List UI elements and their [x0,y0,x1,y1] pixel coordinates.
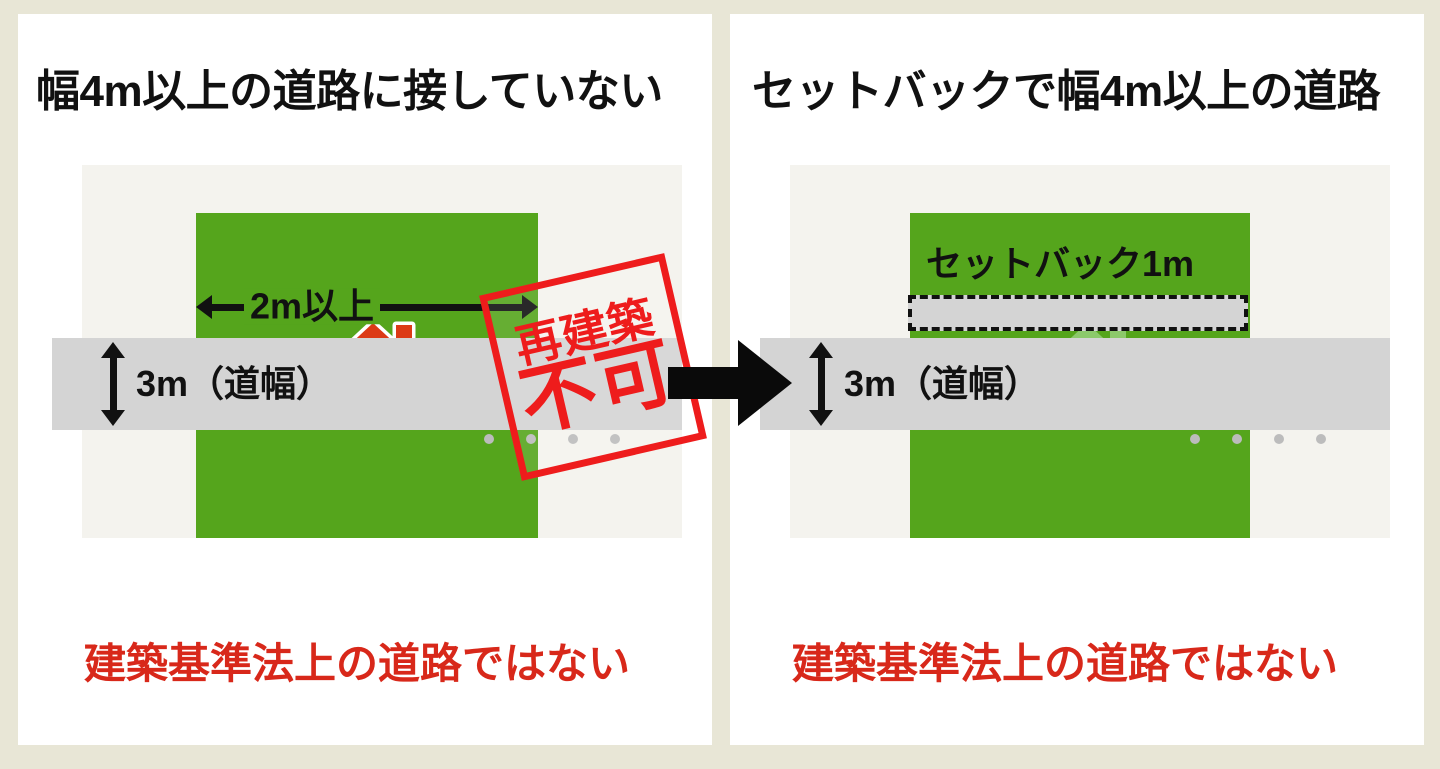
panel-after-caption: 建築基準法上の道路ではない [792,643,1338,685]
panel-before-title: 幅4m以上の道路に接していない [36,70,663,114]
road-width-label: 3m（道幅） [136,366,332,402]
parcel-width-label: 2m以上 [244,288,380,324]
dimension-line [110,350,117,418]
setback-label: セットバック1m [926,246,1194,282]
panel-after-title: セットバックで幅4m以上の道路 [752,70,1380,114]
road-continuation-dots [1190,434,1330,444]
arrow-head-down-icon [101,410,125,426]
setback-strip [908,295,1248,331]
dimension-line [818,350,825,418]
panel-before: 幅4m以上の道路に接していない 2m以上 [18,14,712,745]
panel-after: セットバックで幅4m以上の道路 セットバック1m [730,14,1424,745]
right-arrow-icon [668,340,792,426]
road-width-dimension-left [808,342,834,426]
road-width-label-left: 3m（道幅） [844,366,1040,402]
diagram-canvas: 幅4m以上の道路に接していない 2m以上 [0,0,1440,769]
road-width-dimension [100,342,126,426]
arrow-head-down-icon [809,410,833,426]
panel-before-caption: 建築基準法上の道路ではない [84,643,630,685]
